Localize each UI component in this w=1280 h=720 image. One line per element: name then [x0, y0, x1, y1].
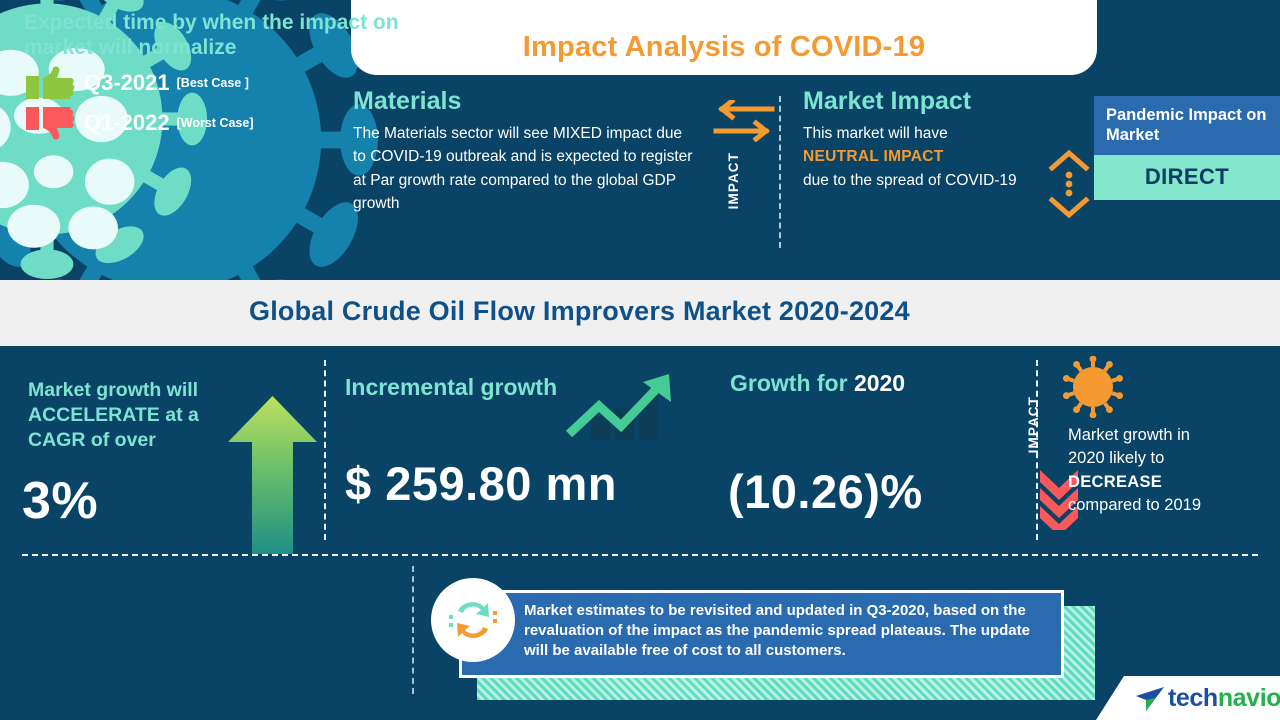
metric-impact-line1: Market growth in — [1068, 426, 1190, 444]
left-right-arrows-icon — [710, 100, 780, 142]
infographic-canvas: Impact Analysis of COVID-19 Materials Th… — [0, 0, 1280, 720]
up-arrow-icon — [225, 394, 320, 554]
normalize-heading: Expected time by when the impact on mark… — [24, 10, 424, 60]
up-down-chevrons-icon — [1046, 150, 1092, 218]
logo-text-tech: tech — [1168, 684, 1218, 713]
logo-text-navio: navio — [1218, 684, 1280, 713]
metric-cagr-value: 3% — [22, 471, 98, 531]
metric-incremental-growth: Incremental growth $ 259.80 mn — [330, 346, 700, 554]
pandemic-impact-badge: Pandemic Impact on Market DIRECT — [1094, 96, 1280, 200]
pandemic-impact-value: DIRECT — [1094, 155, 1280, 200]
metric-impact-line3: compared to 2019 — [1068, 496, 1201, 514]
case-row-worst: Q1-2022 [Worst Case] — [24, 106, 424, 140]
thumbs-up-icon — [24, 66, 76, 100]
case-best-quarter: Q3-2021 — [84, 70, 170, 96]
report-title-band: Global Crude Oil Flow Improvers Market 2… — [0, 280, 1280, 346]
market-impact-heading: Market Impact — [803, 88, 1033, 116]
metric-growth-value: (10.26)% — [728, 464, 923, 519]
virus-icon — [1062, 356, 1124, 418]
pandemic-impact-title: Pandemic Impact on Market — [1094, 96, 1280, 155]
note-text: Market estimates to be revisited and upd… — [459, 590, 1064, 678]
market-impact-line2: due to the spread of COVID-19 — [803, 172, 1017, 189]
header-divider-dashed — [779, 96, 781, 248]
note-wrapper: Market estimates to be revisited and upd… — [459, 590, 1089, 686]
metric-divider-1 — [324, 360, 326, 540]
metric-incremental-value: $ 259.80 mn — [345, 456, 617, 511]
trend-up-icon — [555, 368, 680, 448]
thumbs-down-icon — [24, 106, 76, 140]
title-panel: Impact Analysis of COVID-19 — [351, 0, 1097, 75]
metric-cagr: Market growth will ACCELERATE at a CAGR … — [0, 346, 324, 554]
case-best-label: [Best Case ] — [177, 76, 249, 90]
metric-growth-label: Growth for 2020 — [730, 370, 905, 397]
refresh-icon — [448, 595, 498, 645]
metric-growth-2020: Growth for 2020 (10.26)% — [712, 346, 1002, 554]
metric-impact-text: Market growth in 2020 likely to DECREASE… — [1068, 424, 1278, 518]
page-title: Impact Analysis of COVID-19 — [523, 31, 925, 75]
case-row-best: Q3-2021 [Best Case ] — [24, 66, 424, 100]
metric-impact-note: IMPACT Market growth in 2020 likely to D… — [1014, 346, 1280, 554]
metric-cagr-label: Market growth will ACCELERATE at a CAGR … — [28, 378, 243, 453]
case-worst-quarter: Q1-2022 — [84, 110, 170, 136]
technavio-mark-icon — [1135, 686, 1165, 712]
impact-label-vertical-bottom: IMPACT — [1026, 396, 1041, 453]
market-impact-line1: This market will have — [803, 125, 948, 142]
metric-incremental-label: Incremental growth — [345, 374, 557, 401]
report-title: Global Crude Oil Flow Improvers Market 2… — [249, 296, 910, 327]
market-impact-block: Market Impact This market will have NEUT… — [803, 88, 1033, 192]
metrics-section: Market growth will ACCELERATE at a CAGR … — [0, 346, 1280, 554]
metric-growth-label-teal: Growth for — [730, 370, 854, 396]
case-worst-label: [Worst Case] — [177, 116, 254, 130]
impact-label-vertical-top: IMPACT — [726, 152, 741, 209]
metric-growth-label-year: 2020 — [854, 370, 905, 396]
normalize-block: Expected time by when the impact on mark… — [24, 10, 424, 140]
metric-impact-highlight: DECREASE — [1068, 473, 1162, 491]
technavio-logo: technavio™ — [1135, 684, 1280, 713]
bottom-divider-dashed — [412, 566, 414, 694]
metric-impact-line2: 2020 likely to — [1068, 449, 1164, 467]
market-impact-highlight: NEUTRAL IMPACT — [803, 148, 944, 165]
